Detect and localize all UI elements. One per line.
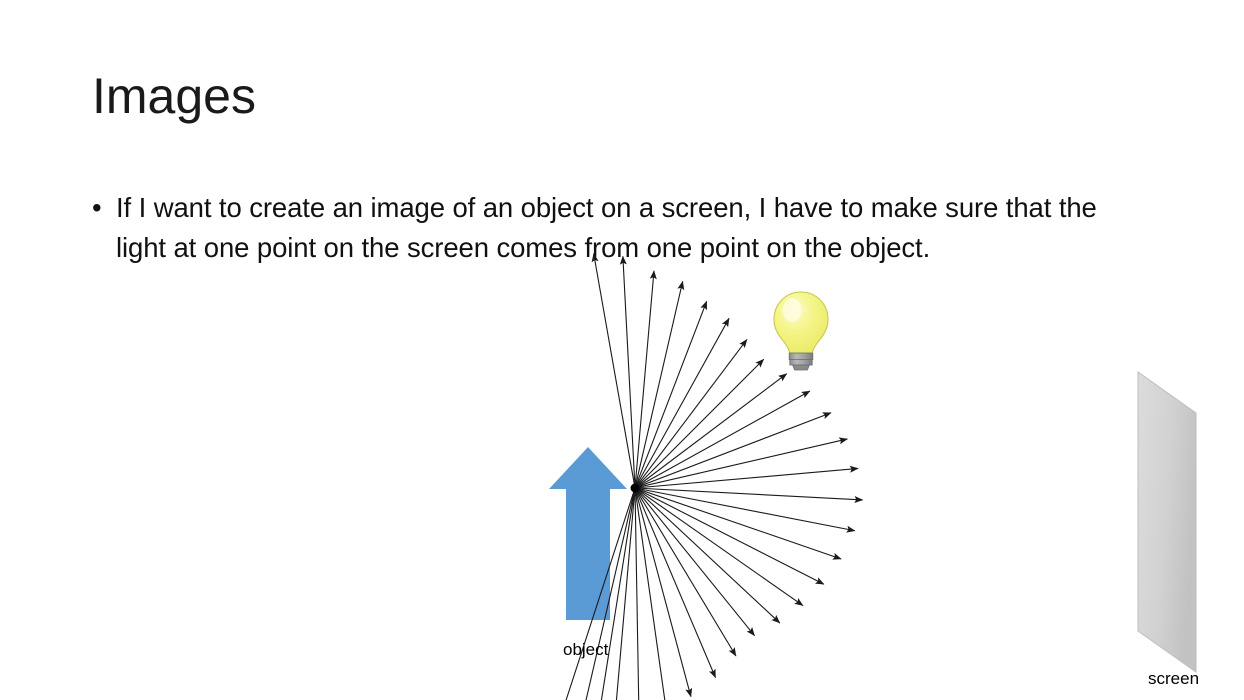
projection-screen xyxy=(1138,372,1196,672)
light-ray xyxy=(635,391,810,488)
light-ray xyxy=(635,488,824,584)
slide-body: • If I want to create an image of an obj… xyxy=(92,188,1142,268)
light-ray xyxy=(635,413,831,488)
list-item: • If I want to create an image of an obj… xyxy=(92,188,1142,268)
object-label: object xyxy=(563,640,608,660)
light-ray xyxy=(635,488,665,700)
light-ray xyxy=(635,488,841,559)
light-ray xyxy=(635,271,654,488)
light-ray xyxy=(635,359,764,488)
light-ray xyxy=(635,318,729,488)
light-ray xyxy=(635,488,803,606)
light-ray xyxy=(594,488,635,700)
bullet-text: If I want to create an image of an objec… xyxy=(116,188,1142,268)
light-ray xyxy=(612,488,635,700)
light-ray xyxy=(635,488,780,623)
light-ray xyxy=(635,439,847,488)
light-ray xyxy=(635,301,707,488)
object-arrow xyxy=(549,447,627,620)
light-ray xyxy=(635,339,747,488)
screen-label: screen xyxy=(1148,669,1199,689)
page-title: Images xyxy=(92,68,256,126)
light-ray xyxy=(594,254,635,488)
light-bulb-icon xyxy=(774,292,828,370)
light-ray-group xyxy=(555,254,863,700)
light-ray xyxy=(635,488,691,697)
ray-source-point xyxy=(631,484,640,493)
light-ray xyxy=(623,256,635,488)
light-ray xyxy=(577,488,635,700)
light-ray xyxy=(635,488,855,531)
light-ray xyxy=(635,488,755,636)
light-ray xyxy=(555,488,635,700)
light-ray xyxy=(635,488,736,656)
light-ray xyxy=(635,374,787,488)
bullet-marker: • xyxy=(92,188,116,228)
light-ray xyxy=(635,468,858,488)
light-ray xyxy=(635,488,639,700)
light-ray xyxy=(635,488,863,500)
light-ray xyxy=(635,281,683,488)
light-ray xyxy=(635,488,715,678)
slide-canvas: Images • If I want to create an image of… xyxy=(0,0,1244,700)
